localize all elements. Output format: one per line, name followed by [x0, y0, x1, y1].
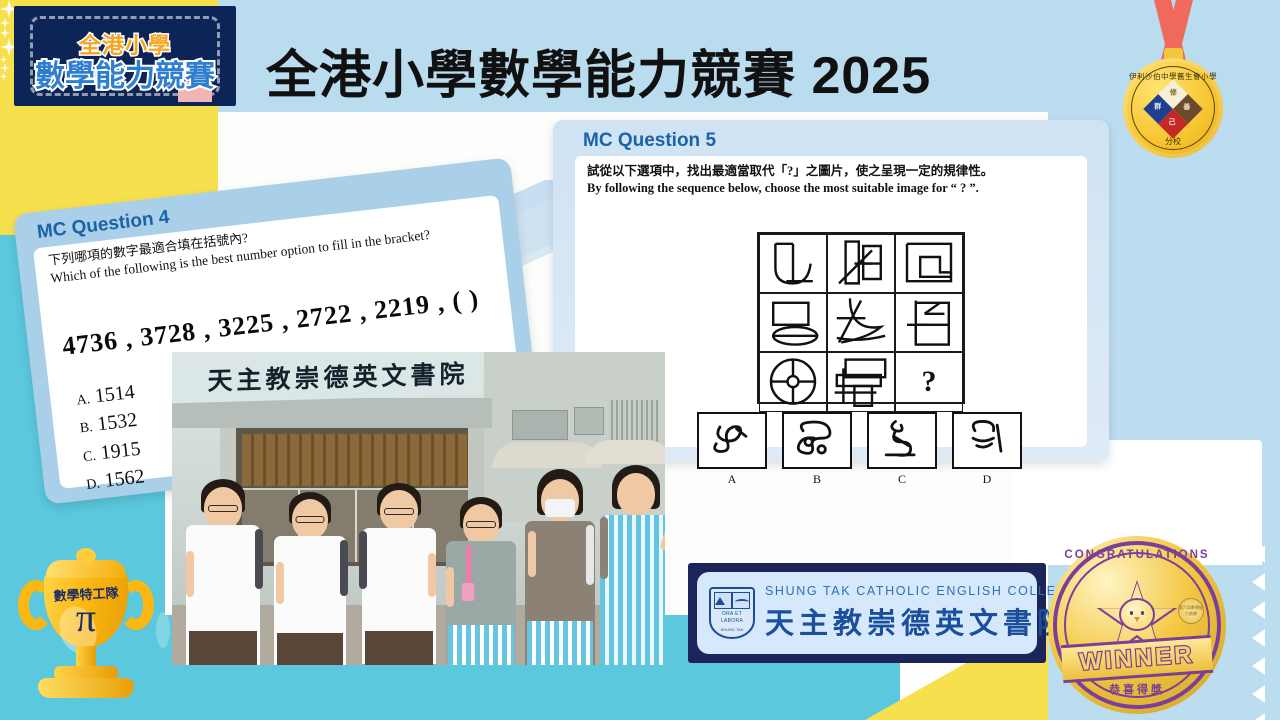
- crest-motto-3: SHUNG TAK: [711, 627, 753, 632]
- trophy-icon: 數學特工隊 π: [10, 540, 162, 712]
- school-crest-icon: ORA ET LABORA SHUNG TAK: [709, 587, 755, 639]
- mc-question-5-stem-en: By following the sequence below, choose …: [587, 180, 1083, 197]
- chick-eye-right: [1141, 611, 1144, 615]
- badge-winner-text: WINNER: [1078, 641, 1195, 677]
- grid-cell-5: [827, 293, 895, 352]
- grid-cell-3: [895, 234, 963, 293]
- student-backpack-strap: [586, 525, 594, 585]
- mc4-option-d-letter: D.: [86, 477, 101, 493]
- puzzle-figure-6: [896, 294, 962, 351]
- mc4-option-b-letter: B.: [79, 420, 93, 436]
- student-arm: [186, 551, 194, 597]
- mc-question-4-sequence: 4736 , 3728 , 3225 , 2722 , 2219 , ( ): [61, 281, 502, 361]
- student-skirt: [448, 625, 514, 665]
- photo-umbrella: [586, 440, 665, 464]
- student-face-mask: [545, 499, 575, 517]
- student-arm: [428, 553, 436, 597]
- trophy-stem: [76, 646, 96, 668]
- student-id-card: [462, 583, 474, 601]
- puzzle-figure-1: [760, 235, 826, 292]
- photo-ac-unit: [512, 410, 568, 440]
- option-d-box[interactable]: [952, 412, 1022, 469]
- photo-umbrella: [492, 442, 602, 468]
- student-glasses: [384, 508, 414, 515]
- option-b-box[interactable]: [782, 412, 852, 469]
- chick-beak: [1134, 617, 1140, 622]
- option-c-box[interactable]: [867, 412, 937, 469]
- grid-cell-8: [827, 352, 895, 411]
- school-name-chinese: 天主教崇德英文書院: [765, 600, 1078, 642]
- medal-branch-label: 分校: [1123, 136, 1223, 147]
- student-5: [520, 469, 600, 665]
- student-trousers: [365, 631, 433, 665]
- chick-eye-left: [1130, 611, 1133, 615]
- trophy-knob: [76, 548, 96, 564]
- option-d-figure: [954, 414, 1020, 467]
- student-4: [440, 483, 522, 665]
- arrow-decoration-column: [1246, 545, 1274, 720]
- option-c-figure: [869, 414, 935, 467]
- crest-word-3: 善: [1183, 102, 1190, 112]
- crest-motto-1: ORA ET: [711, 611, 753, 617]
- grid-cell-7: [759, 352, 827, 411]
- option-d-label: D: [952, 472, 1022, 487]
- option-b-label: B: [782, 472, 852, 487]
- logo-line-2: 數學能力競賽: [16, 51, 234, 95]
- student-backpack-strap: [359, 531, 367, 589]
- puzzle-figure-3: [896, 235, 962, 292]
- option-a[interactable]: A: [697, 412, 767, 492]
- grid-cell-4: [759, 293, 827, 352]
- sequence-puzzle-grid: ?: [757, 232, 965, 404]
- puzzle-figure-7: [760, 353, 826, 410]
- badge-mini-seal: 第六屆數學能力競賽: [1178, 598, 1204, 624]
- mc-question-5-options: A B: [697, 412, 1027, 492]
- group-photo: 天主教崇德英文書院: [172, 352, 665, 665]
- student-head: [617, 473, 655, 515]
- student-lanyard: [466, 545, 471, 585]
- school-name-block: SHUNG TAK CATHOLIC ENGLISH COLLEGE 天主教崇德…: [765, 584, 1078, 642]
- student-uniform: [600, 515, 665, 665]
- pi-symbol-icon: π: [44, 598, 128, 638]
- student-skirt: [527, 621, 593, 665]
- page-title: 全港小學數學能力競賽 2025: [266, 33, 931, 108]
- student-arm: [446, 567, 454, 607]
- student-3: [356, 475, 442, 665]
- student-glasses: [208, 505, 238, 512]
- triangle-icon: [1252, 629, 1265, 647]
- option-d[interactable]: D: [952, 412, 1022, 492]
- badge-congratulations-text: CONGRATULATIONS: [1048, 549, 1226, 561]
- crest-word-1: 修: [1170, 87, 1177, 97]
- option-c[interactable]: C: [867, 412, 937, 492]
- competition-logo: 全港小學 數學能力競賽: [14, 6, 236, 106]
- option-a-label: A: [697, 472, 767, 487]
- student-1: [180, 475, 266, 665]
- triangle-icon: [1252, 713, 1265, 720]
- medal-disc: 伊利沙伯中學舊生會小學 修 善 群 己 分校: [1123, 58, 1223, 158]
- photo-ac-unit: [574, 407, 604, 435]
- student-glasses: [466, 521, 496, 528]
- option-b-figure: [784, 414, 850, 467]
- crest-wave: [735, 599, 749, 605]
- crest-word-4: 己: [1168, 117, 1175, 127]
- option-a-box[interactable]: [697, 412, 767, 469]
- mc-question-5-title: MC Question 5: [583, 130, 716, 152]
- student-trousers: [277, 633, 343, 665]
- chick-icon: [1119, 598, 1155, 631]
- student-backpack-strap: [600, 517, 608, 579]
- school-name-english: SHUNG TAK CATHOLIC ENGLISH COLLEGE: [765, 584, 1078, 598]
- student-6: [596, 465, 665, 665]
- grid-cell-9-missing: ?: [895, 352, 963, 411]
- puzzle-figure-5: [828, 294, 894, 351]
- mc-question-5-stem-zh: 試從以下選項中，找出最適當取代「?」之圖片，使之呈現一定的規律性。: [587, 163, 1083, 180]
- crest-word-2: 群: [1154, 102, 1161, 112]
- student-trousers: [189, 631, 257, 665]
- student-arm: [528, 531, 536, 577]
- triangle-icon: [1252, 573, 1265, 591]
- trophy-base-lower: [38, 678, 134, 698]
- puzzle-figure-2: [828, 235, 894, 292]
- triangle-icon: [1252, 685, 1265, 703]
- mc-question-4-options: A. 1514 B. 1532 C. 1915 D. 1562: [75, 378, 146, 498]
- gold-medal-icon: 伊利沙伯中學舊生會小學 修 善 群 己 分校: [1118, 0, 1228, 160]
- student-2: [268, 480, 352, 665]
- grid-cell-2: [827, 234, 895, 293]
- mc4-option-c-letter: C.: [82, 449, 96, 465]
- option-a-figure: [699, 414, 765, 467]
- triangle-icon: [1252, 657, 1265, 675]
- mc4-option-b-value: 1532: [96, 409, 138, 435]
- badge-bottom-text: 恭喜得獎: [1048, 681, 1226, 697]
- option-c-label: C: [867, 472, 937, 487]
- student-backpack-strap: [340, 540, 348, 596]
- photo-window-grille: [608, 400, 660, 444]
- trophy-highlight: [156, 612, 170, 648]
- crest-motto-2: LABORA: [711, 618, 753, 624]
- grid-cell-6: [895, 293, 963, 352]
- mc4-option-a-letter: A.: [76, 392, 91, 408]
- mc4-option-d-value: 1562: [103, 466, 145, 492]
- student-backpack-strap: [255, 529, 263, 589]
- mc4-option-d[interactable]: D. 1562: [85, 463, 146, 498]
- student-arm: [276, 562, 284, 604]
- mc4-option-a-value: 1514: [94, 381, 136, 407]
- question-mark-placeholder: ?: [896, 353, 962, 410]
- school-logo-banner: ORA ET LABORA SHUNG TAK SHUNG TAK CATHOL…: [688, 563, 1046, 663]
- mc4-option-c-value: 1915: [99, 437, 141, 463]
- crest-mountain: [715, 597, 725, 605]
- option-b[interactable]: B: [782, 412, 852, 492]
- winner-badge: CONGRATULATIONS 第六屆數學能力競賽 WINNER 恭喜得獎: [1048, 536, 1226, 714]
- triangle-icon: [1252, 601, 1265, 619]
- puzzle-figure-8: [828, 353, 894, 410]
- triangle-icon: [1252, 545, 1265, 563]
- grid-cell-1: [759, 234, 827, 293]
- photo-canopy: [172, 398, 492, 428]
- mc-question-5-stem: 試從以下選項中，找出最適當取代「?」之圖片，使之呈現一定的規律性。 By fol…: [587, 163, 1083, 197]
- school-logo-plate: ORA ET LABORA SHUNG TAK SHUNG TAK CATHOL…: [697, 572, 1037, 654]
- student-glasses: [296, 516, 325, 523]
- puzzle-figure-4: [760, 294, 826, 351]
